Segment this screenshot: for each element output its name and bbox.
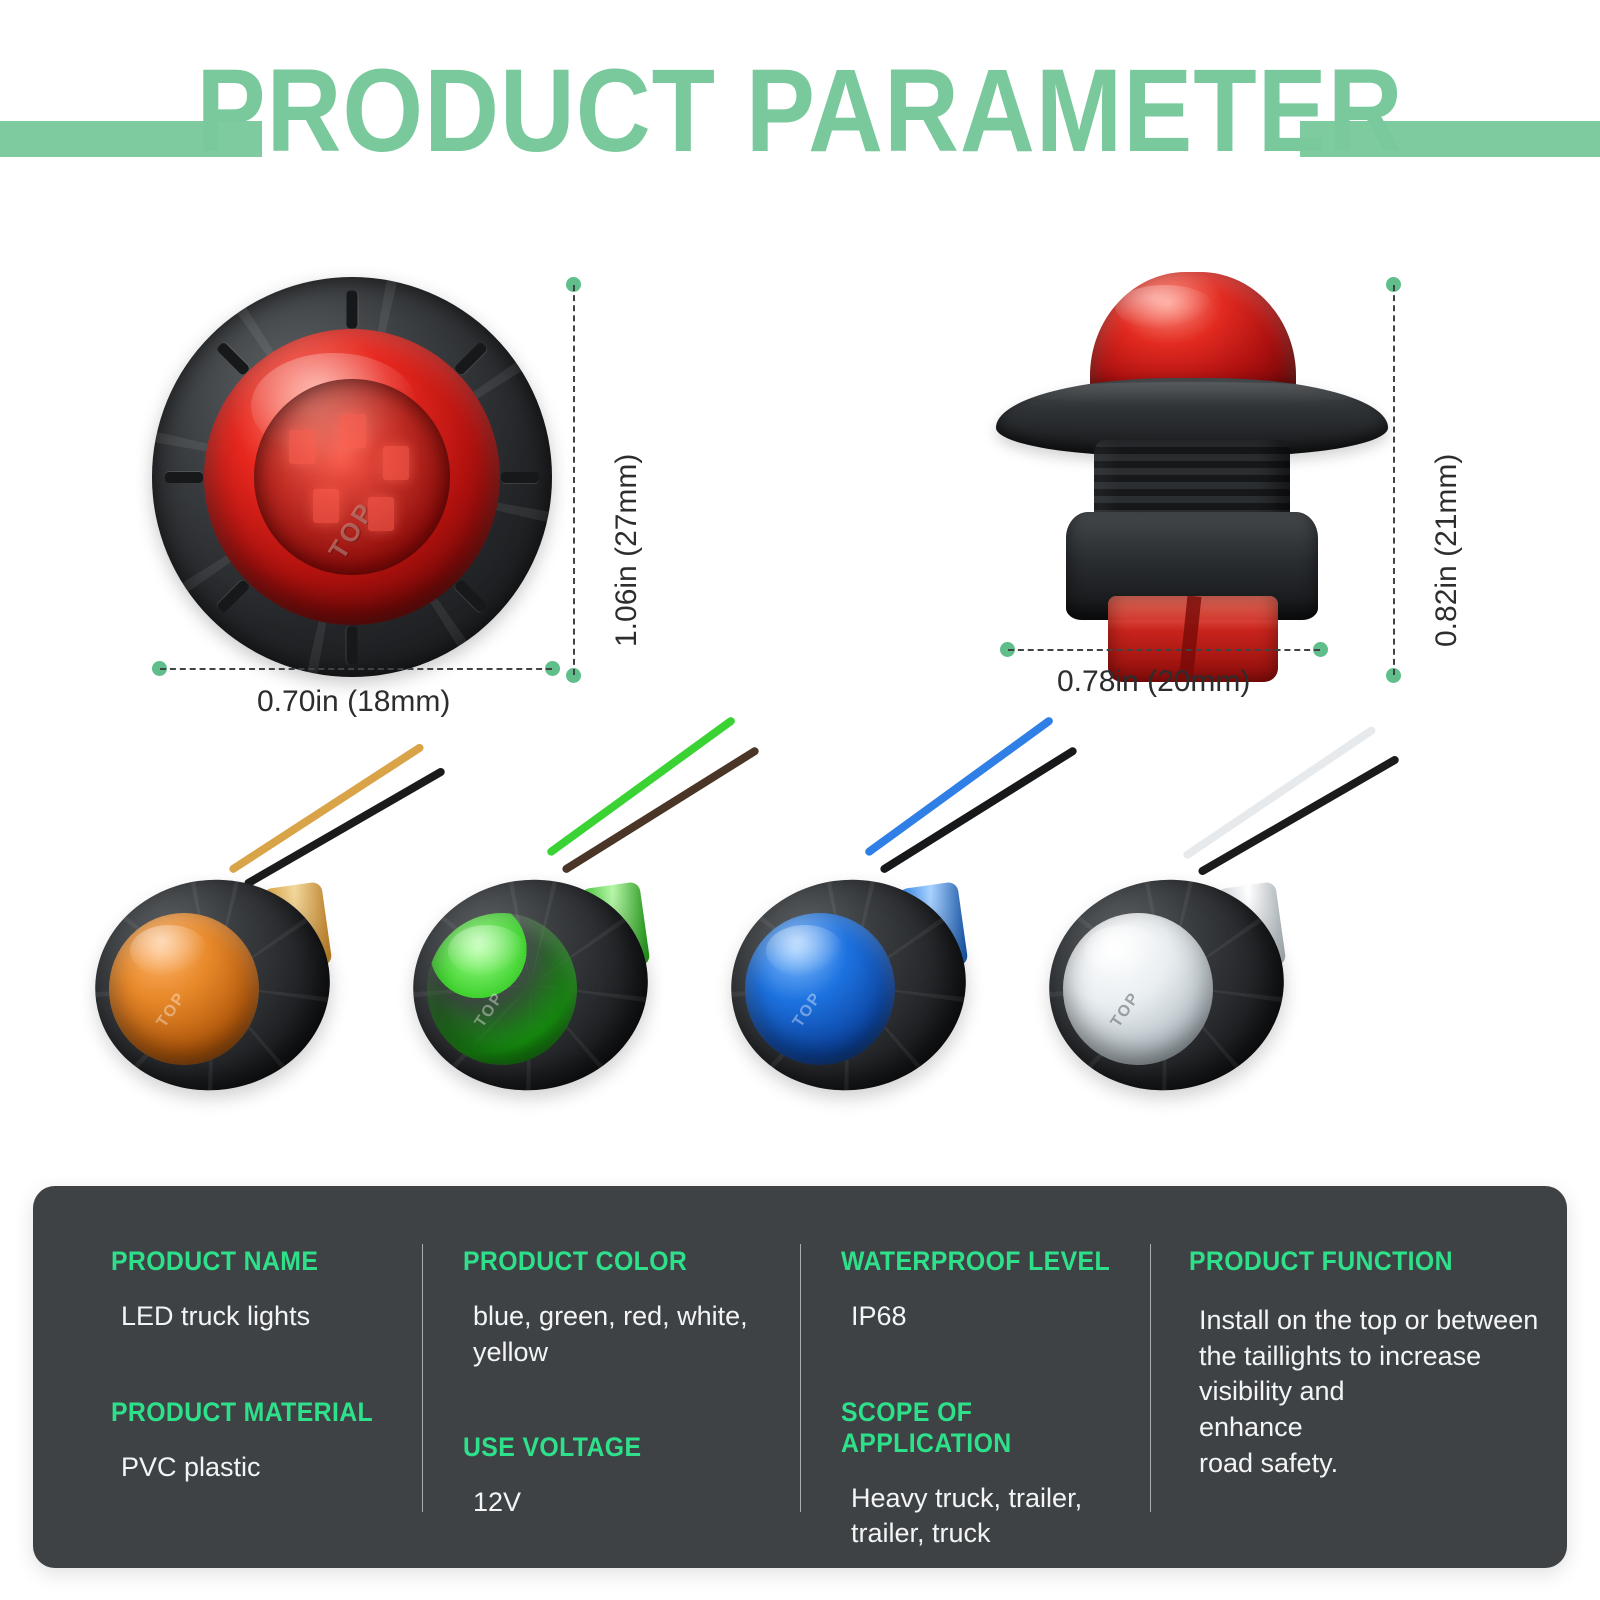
bezel-notch bbox=[347, 291, 358, 329]
red-lens-dome: TOP bbox=[204, 329, 500, 625]
spec-label: USE VOLTAGE bbox=[463, 1432, 774, 1463]
specification-panel: PRODUCT NAME LED truck lights PRODUCT MA… bbox=[33, 1186, 1567, 1568]
led-chip bbox=[340, 414, 366, 448]
amber-wire bbox=[228, 742, 425, 874]
white-led-variant: TOP bbox=[1049, 745, 1309, 1145]
spec-block-use-voltage: USE VOLTAGE 12V bbox=[463, 1432, 801, 1521]
spec-label: PRODUCT FUNCTION bbox=[1189, 1246, 1537, 1277]
dim-label-side-height: 0.82in (21mm) bbox=[1430, 454, 1464, 647]
lens-top-marking: TOP bbox=[154, 989, 191, 1031]
red-led-side-view bbox=[990, 260, 1390, 690]
dim-label-side-width: 0.78in (20mm) bbox=[1057, 665, 1250, 699]
spec-block-waterproof-level: WATERPROOF LEVEL IP68 bbox=[841, 1246, 1151, 1335]
spec-label: PRODUCT NAME bbox=[111, 1246, 398, 1277]
dim-line-front-horizontal bbox=[160, 668, 552, 670]
amber-led-variant: TOP bbox=[95, 745, 355, 1145]
spec-value: LED truck lights bbox=[121, 1299, 423, 1335]
blue-lens: TOP bbox=[745, 913, 895, 1065]
green-lens: TOP bbox=[427, 913, 577, 1065]
bezel-notch bbox=[453, 579, 488, 614]
spec-value: IP68 bbox=[851, 1299, 1151, 1335]
led-chip bbox=[289, 430, 315, 464]
spec-block-product-function: PRODUCT FUNCTION Install on the top or b… bbox=[1189, 1246, 1567, 1481]
spec-label: PRODUCT COLOR bbox=[463, 1246, 774, 1277]
spec-value: Install on the top or between the tailli… bbox=[1199, 1303, 1567, 1481]
dim-line-front-vertical bbox=[573, 285, 575, 675]
page-title: PRODUCT PARAMETER bbox=[96, 52, 1504, 170]
spec-column-4: PRODUCT FUNCTION Install on the top or b… bbox=[1151, 1186, 1567, 1568]
amber-lens: TOP bbox=[109, 913, 259, 1065]
led-chip bbox=[313, 489, 339, 523]
white-wire bbox=[1182, 725, 1377, 860]
page-header: PRODUCT PARAMETER bbox=[0, 0, 1600, 215]
blue-led-variant: TOP bbox=[731, 745, 991, 1145]
black-wire bbox=[1197, 755, 1400, 877]
dim-label-front-width: 0.70in (18mm) bbox=[257, 685, 450, 719]
spec-label: WATERPROOF LEVEL bbox=[841, 1246, 1126, 1277]
dim-line-side-vertical bbox=[1393, 285, 1395, 675]
bezel-notch bbox=[347, 627, 358, 665]
bezel-notch bbox=[216, 579, 251, 614]
spec-value: Heavy truck, trailer, trailer, truck bbox=[851, 1481, 1151, 1552]
color-variant-row: TOP TOP TOP TOP bbox=[0, 735, 1600, 1155]
bezel-notch bbox=[216, 341, 251, 376]
spec-block-product-material: PRODUCT MATERIAL PVC plastic bbox=[111, 1397, 423, 1486]
dim-label-front-height: 1.06in (27mm) bbox=[610, 454, 644, 647]
green-wire bbox=[546, 716, 737, 858]
spec-value: 12V bbox=[473, 1485, 801, 1521]
lens-top-marking: TOP bbox=[790, 989, 827, 1031]
spec-block-scope-of-application: SCOPE OF APPLICATION Heavy truck, traile… bbox=[841, 1397, 1151, 1552]
led-chip bbox=[383, 446, 409, 480]
spec-value: PVC plastic bbox=[121, 1450, 423, 1486]
lens-top-marking: TOP bbox=[472, 989, 509, 1031]
spec-column-2: PRODUCT COLOR blue, green, red, white, y… bbox=[423, 1186, 801, 1568]
red-led-front-view: TOP bbox=[152, 277, 552, 677]
spec-label: PRODUCT MATERIAL bbox=[111, 1397, 398, 1428]
spec-column-3: WATERPROOF LEVEL IP68 SCOPE OF APPLICATI… bbox=[801, 1186, 1151, 1568]
spec-block-product-name: PRODUCT NAME LED truck lights bbox=[111, 1246, 423, 1335]
bezel-notch bbox=[501, 472, 539, 483]
product-showcase: TOP 1.06in (27mm) 0.70in (18mm) 0.82in (… bbox=[0, 215, 1600, 735]
spec-block-product-color: PRODUCT COLOR blue, green, red, white, y… bbox=[463, 1246, 801, 1370]
spec-value: blue, green, red, white, yellow bbox=[473, 1299, 801, 1370]
green-led-variant: TOP bbox=[413, 745, 673, 1145]
clear-lens: TOP bbox=[1063, 913, 1213, 1065]
lens-top-marking: TOP bbox=[1108, 989, 1145, 1031]
spec-label: SCOPE OF APPLICATION bbox=[841, 1397, 1126, 1459]
blue-wire bbox=[864, 716, 1055, 858]
spec-column-1: PRODUCT NAME LED truck lights PRODUCT MA… bbox=[33, 1186, 423, 1568]
dim-line-side-horizontal bbox=[1008, 649, 1320, 651]
bezel-notch bbox=[165, 472, 203, 483]
bezel-notch bbox=[453, 341, 488, 376]
